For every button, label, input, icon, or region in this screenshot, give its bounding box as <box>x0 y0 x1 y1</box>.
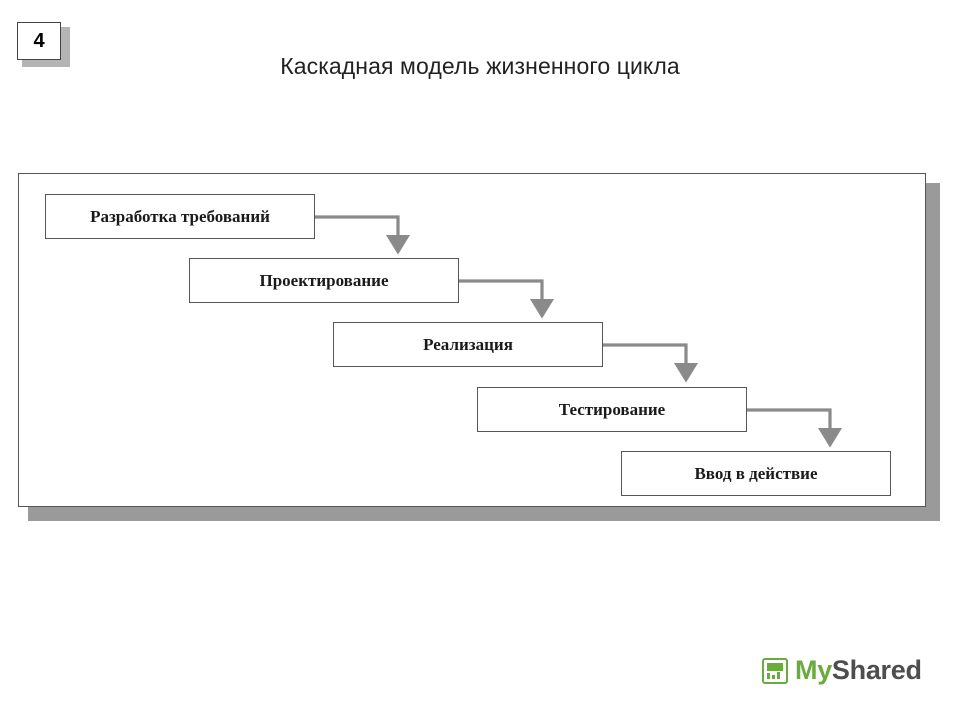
node-label: Проектирование <box>259 271 388 291</box>
node-label: Тестирование <box>559 400 665 420</box>
node-design[interactable]: Проектирование <box>189 258 459 303</box>
node-deployment[interactable]: Ввод в действие <box>621 451 891 496</box>
connector-2 <box>458 281 542 309</box>
watermark: MyShared <box>762 655 922 686</box>
waterfall-diagram: Разработка требований Проектирование Реа… <box>18 173 926 507</box>
watermark-shared: Shared <box>832 655 922 685</box>
myshared-logo-icon <box>762 658 788 684</box>
node-requirements[interactable]: Разработка требований <box>45 194 315 239</box>
watermark-my: My <box>795 655 832 685</box>
connector-4 <box>746 410 830 438</box>
watermark-text: MyShared <box>795 655 922 686</box>
page-title: Каскадная модель жизненного цикла <box>0 53 960 80</box>
connector-1 <box>314 217 398 245</box>
node-label: Ввод в действие <box>694 464 817 484</box>
node-label: Реализация <box>423 335 513 355</box>
node-testing[interactable]: Тестирование <box>477 387 747 432</box>
connector-3 <box>602 345 686 373</box>
node-label: Разработка требований <box>90 207 270 227</box>
node-implementation[interactable]: Реализация <box>333 322 603 367</box>
